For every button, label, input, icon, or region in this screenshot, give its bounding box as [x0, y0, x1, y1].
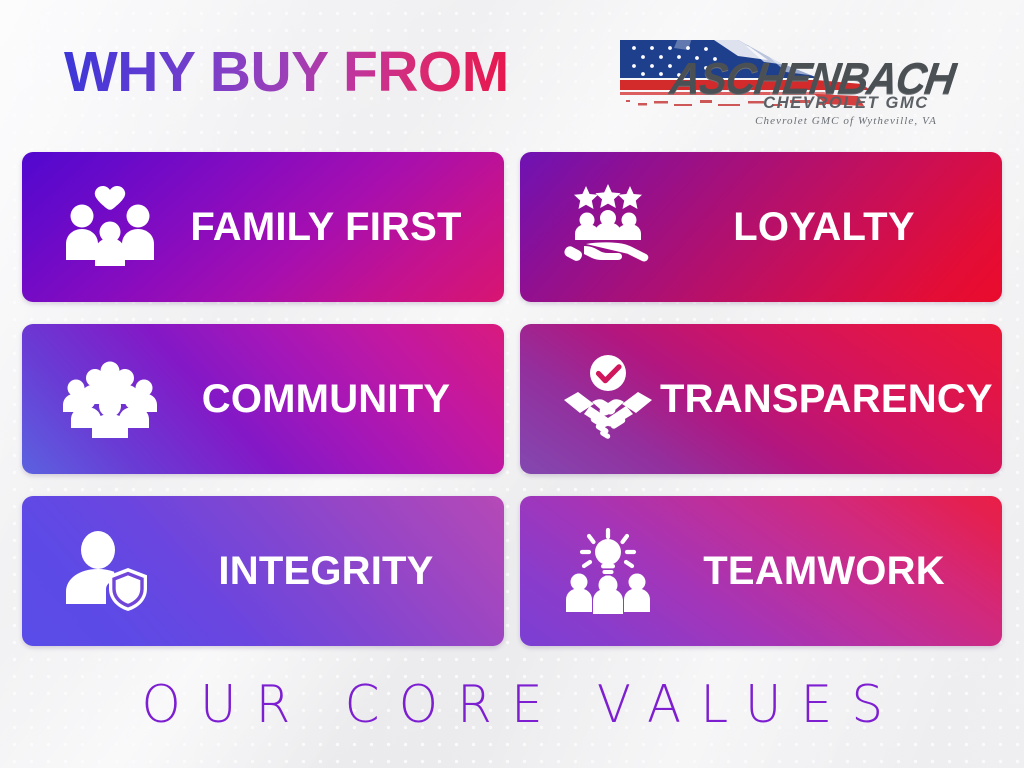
- dealer-logo: ASCHENBACH ASCHENBACH CHEVROLET GMC Chev…: [618, 34, 978, 134]
- footer: OUR CORE VALUES: [0, 668, 1024, 742]
- page-title: WHY BUY FROM: [64, 44, 509, 101]
- hand-holding-people-stars-icon: [556, 184, 660, 270]
- brand-tagline: Chevrolet GMC of Wytheville, VA: [755, 115, 937, 127]
- value-card-loyalty[interactable]: LOYALTY: [520, 152, 1002, 302]
- core-values-grid: FAMILY FIRST: [22, 152, 1002, 646]
- value-card-label: COMMUNITY: [162, 379, 504, 419]
- value-card-teamwork[interactable]: TEAMWORK: [520, 496, 1002, 646]
- crowd-people-icon: [58, 358, 162, 440]
- value-card-integrity[interactable]: INTEGRITY: [22, 496, 504, 646]
- value-card-family-first[interactable]: FAMILY FIRST: [22, 152, 504, 302]
- value-card-label: TRANSPARENCY: [660, 379, 1002, 419]
- value-card-label: INTEGRITY: [162, 551, 504, 591]
- brand-subtitle: CHEVROLET GMC: [763, 94, 929, 112]
- value-card-label: LOYALTY: [660, 207, 1002, 247]
- person-shield-icon: [58, 528, 162, 614]
- handshake-check-icon: [556, 354, 660, 444]
- family-heart-icon: [58, 184, 162, 270]
- footer-tagline: OUR CORE VALUES: [122, 679, 902, 731]
- value-card-label: TEAMWORK: [660, 551, 1002, 591]
- value-card-community[interactable]: COMMUNITY: [22, 324, 504, 474]
- poster-canvas: WHY BUY FROM: [0, 0, 1024, 768]
- header: WHY BUY FROM: [0, 0, 1024, 148]
- value-card-transparency[interactable]: TRANSPARENCY: [520, 324, 1002, 474]
- lightbulb-team-icon: [556, 528, 660, 614]
- value-card-label: FAMILY FIRST: [162, 207, 504, 247]
